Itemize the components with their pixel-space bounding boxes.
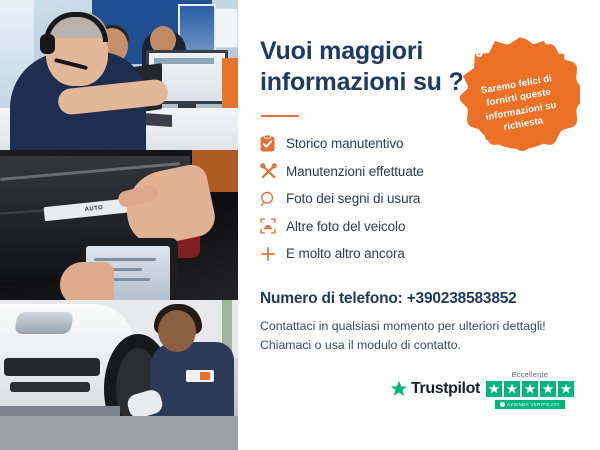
mechanic-head bbox=[158, 310, 196, 352]
monitor-ui-bar bbox=[154, 58, 214, 64]
list-item: Storico manutentivo bbox=[260, 130, 580, 158]
page-title: Vuoi maggiori informazioni su ? bbox=[260, 36, 475, 97]
list-item-label: Manutenzioni effettuate bbox=[286, 164, 424, 179]
check-circle-icon bbox=[500, 402, 505, 407]
car-headlight bbox=[14, 312, 74, 334]
phone-number-label: Numero di telefono: +390238583852 bbox=[260, 290, 517, 308]
car-grille-upper bbox=[4, 358, 100, 376]
mechanic-wheel-photo bbox=[0, 300, 238, 450]
vehicle-focus-icon bbox=[260, 216, 286, 236]
verified-business-label: AZIENDA VERIFICATA bbox=[507, 402, 560, 407]
photo-column: AUTO bbox=[0, 0, 238, 450]
list-item-label: Storico manutentivo bbox=[286, 136, 403, 151]
crossed-tools-icon bbox=[260, 161, 286, 181]
list-item: Altre foto del veicolo bbox=[260, 213, 580, 241]
trustpilot-logo: Trustpilot bbox=[390, 380, 480, 398]
feature-list: Storico manutentivo Manutenzioni effettu… bbox=[260, 130, 580, 268]
star-filled-icon bbox=[558, 381, 574, 397]
star-filled-icon bbox=[540, 381, 556, 397]
trustpilot-caption: Eccellente bbox=[512, 370, 549, 379]
list-item-label: Foto dei segni di usura bbox=[286, 191, 420, 206]
trustpilot-star-icon bbox=[390, 380, 408, 398]
advertisement-banner: AUTO bbox=[0, 0, 600, 450]
trustpilot-score-block: Eccellente bbox=[486, 370, 574, 409]
wall-poster-secondary bbox=[214, 8, 238, 48]
agent-headset-earcup bbox=[40, 34, 55, 54]
contact-line-2: Chiamaci o usa il modulo di contatto. bbox=[260, 336, 580, 355]
star-filled-icon bbox=[486, 381, 502, 397]
magnifier-icon bbox=[260, 189, 286, 209]
vehicle-inspection-photo: AUTO bbox=[0, 150, 238, 300]
mechanic-uniform-badge-logo bbox=[200, 372, 210, 380]
content-panel: Vuoi maggiori informazioni su ? Saremo f… bbox=[238, 0, 600, 450]
contact-line-1: Contattaci in qualsiasi momento per ulte… bbox=[260, 317, 580, 336]
verified-business-badge: AZIENDA VERIFICATA bbox=[495, 400, 565, 409]
clipboard-check-icon bbox=[260, 134, 286, 154]
car-grille-lower bbox=[10, 382, 90, 392]
list-item-label: E molto altro ancora bbox=[286, 246, 405, 261]
list-item: E molto altro ancora bbox=[260, 240, 580, 268]
title-underline-rule bbox=[261, 115, 299, 117]
trustpilot-rating: Trustpilot Eccellente bbox=[390, 370, 574, 409]
star-filled-icon bbox=[504, 381, 520, 397]
list-item: Foto dei segni di usura bbox=[260, 185, 580, 213]
inspector-hand-lower bbox=[60, 262, 114, 300]
plus-icon bbox=[260, 244, 286, 264]
tablet-text-line bbox=[94, 258, 156, 261]
list-item: Manutenzioni effettuate bbox=[260, 158, 580, 186]
list-item-label: Altre foto del veicolo bbox=[286, 219, 405, 234]
headset-icon bbox=[460, 36, 484, 60]
contact-instructions: Contattaci in qualsiasi momento per ulte… bbox=[260, 317, 580, 355]
call-centre-agents-photo bbox=[0, 0, 238, 150]
workshop-floor bbox=[0, 416, 238, 450]
trustpilot-stars bbox=[486, 381, 574, 397]
star-filled-icon bbox=[522, 381, 538, 397]
trustpilot-wordmark: Trustpilot bbox=[411, 380, 480, 398]
